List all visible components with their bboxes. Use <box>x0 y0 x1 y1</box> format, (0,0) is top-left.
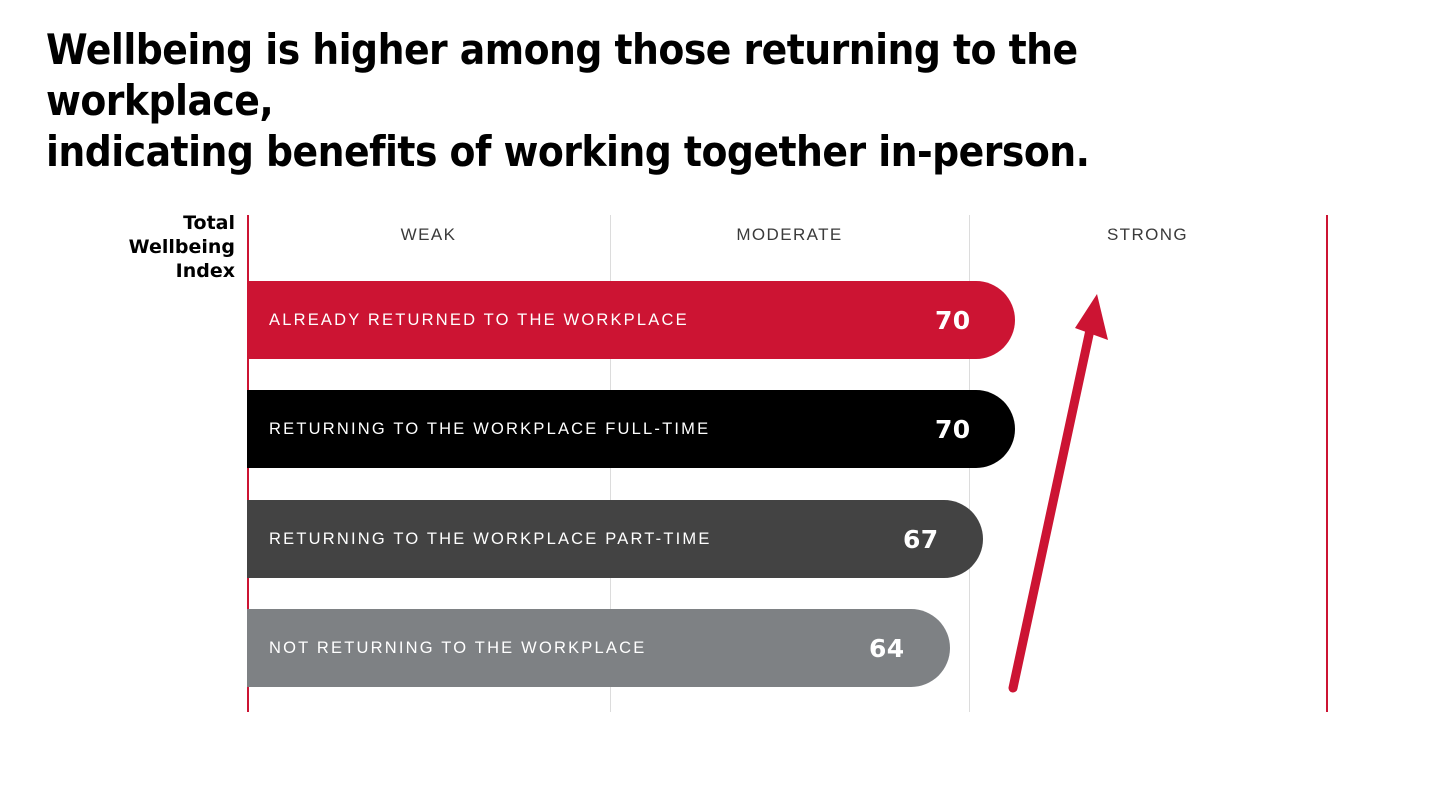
bar-category-label: RETURNING TO THE WORKPLACE PART-TIME <box>269 500 712 578</box>
bar-value-label: 67 <box>903 500 938 578</box>
band-label-moderate: MODERATE <box>610 225 969 245</box>
bar-value-label: 70 <box>935 390 970 468</box>
bar-value-label: 70 <box>935 281 970 359</box>
bar-category-label: NOT RETURNING TO THE WORKPLACE <box>269 609 646 687</box>
wellbeing-index-bar-chart: Total Wellbeing Index WEAK MODERATE STRO… <box>0 195 1439 725</box>
band-label-weak: WEAK <box>247 225 610 245</box>
chart-right-border <box>1326 215 1328 712</box>
plot-area: WEAK MODERATE STRONG ALREADY RETURNED TO… <box>247 195 1328 713</box>
bar-category-label: ALREADY RETURNED TO THE WORKPLACE <box>269 281 689 359</box>
bar-category-label: RETURNING TO THE WORKPLACE FULL-TIME <box>269 390 710 468</box>
bar-value-label: 64 <box>869 609 904 687</box>
page-title: Wellbeing is higher among those returnin… <box>46 24 1252 177</box>
y-axis-caption: Total Wellbeing Index <box>60 211 235 283</box>
band-label-strong: STRONG <box>969 225 1326 245</box>
